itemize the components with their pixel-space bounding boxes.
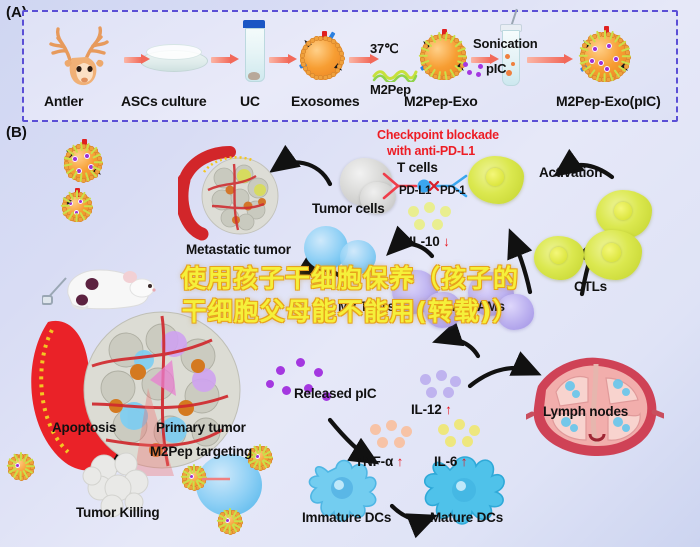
macrophage-icon-2 — [340, 240, 376, 274]
label-apoptosis: Apoptosis — [52, 420, 116, 435]
label-asc-culture: ASCs culture — [121, 93, 207, 109]
process-arrow-6 — [527, 54, 575, 65]
sonication-tube-icon — [500, 22, 520, 92]
label-exosomes: Exosomes — [291, 93, 359, 109]
panel-b-tag: (B) — [6, 124, 27, 141]
targeting-nanoparticle-icon-3 — [218, 510, 242, 534]
label-released-pic: Released pIC — [294, 386, 376, 401]
label-sonication: Sonication — [473, 36, 537, 51]
label-metastatic-tumor: Metastatic tumor — [186, 242, 291, 257]
label-m2pep-exo-pic: M2Pep-Exo(pIC) — [556, 93, 661, 109]
label-tumor-killing: Tumor Killing — [76, 505, 159, 520]
il-6-trend: ↑ — [461, 454, 468, 469]
label-tumor-cells: Tumor cells — [312, 201, 385, 216]
metastatic-tumor-icon — [178, 146, 294, 242]
label-t-cells: T cells — [397, 160, 438, 175]
deer-antler-icon — [46, 26, 120, 88]
centrifuge-tube-icon — [243, 20, 265, 90]
label-lymph-nodes: Lymph nodes — [543, 404, 628, 419]
label-mature-dcs: Mature DCs — [430, 510, 503, 525]
label-m2-tams: M2 TAMs — [338, 299, 395, 314]
panel-b: (B) — [0, 124, 700, 547]
label-pic: pIC — [486, 61, 506, 76]
targeting-link-icon — [200, 470, 234, 488]
nanoparticle-icon-1 — [64, 144, 102, 182]
label-il-6: IL-6 ↑ — [434, 454, 467, 469]
ctl-cell-icon-2 — [534, 236, 584, 280]
label-pd-l1: PD-L1 — [399, 185, 431, 197]
label-primary-tumor: Primary tumor — [156, 420, 246, 435]
figure-root: (A) — [0, 0, 700, 547]
tnf-alpha-name: TNF-α — [355, 454, 393, 469]
label-tnf-alpha: TNF-α ↑ — [355, 454, 403, 469]
t-cell-icon-1 — [468, 156, 524, 204]
ctl-cell-icon-1 — [584, 230, 642, 280]
nanoparticle-icon-2 — [62, 192, 92, 222]
label-antler: Antler — [44, 93, 83, 109]
exosome-pic-loaded-icon — [580, 32, 630, 82]
il-10-trend: ↓ — [443, 234, 450, 249]
label-checkpoint-line2: with anti-PD-L1 — [387, 144, 475, 158]
m2pep-squiggle-icon — [372, 66, 418, 82]
label-m1-tams: M1 TAMs — [448, 299, 505, 314]
il-12-name: IL-12 — [411, 402, 442, 417]
label-checkpoint-line1: Checkpoint blockade — [377, 128, 499, 142]
label-ctls: CTLs — [574, 279, 607, 294]
il-12-trend: ↑ — [445, 402, 452, 417]
il-10-name: IL-10 — [409, 234, 440, 249]
label-temperature: 37℃ — [370, 41, 398, 57]
label-m2pep: M2Pep — [370, 82, 411, 97]
label-il-10: IL-10 ↓ — [409, 234, 450, 249]
process-arrow-3 — [269, 54, 297, 65]
il-6-name: IL-6 — [434, 454, 457, 469]
label-il-12: IL-12 ↑ — [411, 402, 452, 417]
process-arrow-2 — [211, 54, 239, 65]
exosome-vesicle-icon — [300, 36, 344, 80]
tnf-alpha-trend: ↑ — [397, 454, 404, 469]
label-activation: Activation — [539, 165, 602, 180]
exosome-peptide-icon — [420, 34, 466, 80]
label-pd-1: PD-1 — [440, 185, 465, 197]
label-immature-dcs: Immature DCs — [302, 510, 391, 525]
label-m2pep-targeting: M2Pep targeting — [150, 444, 252, 459]
label-uc: UC — [240, 93, 260, 109]
process-arrow-1 — [124, 54, 150, 65]
panel-a: (A) — [0, 0, 700, 124]
label-m2pep-exo: M2Pep-Exo — [404, 93, 478, 109]
